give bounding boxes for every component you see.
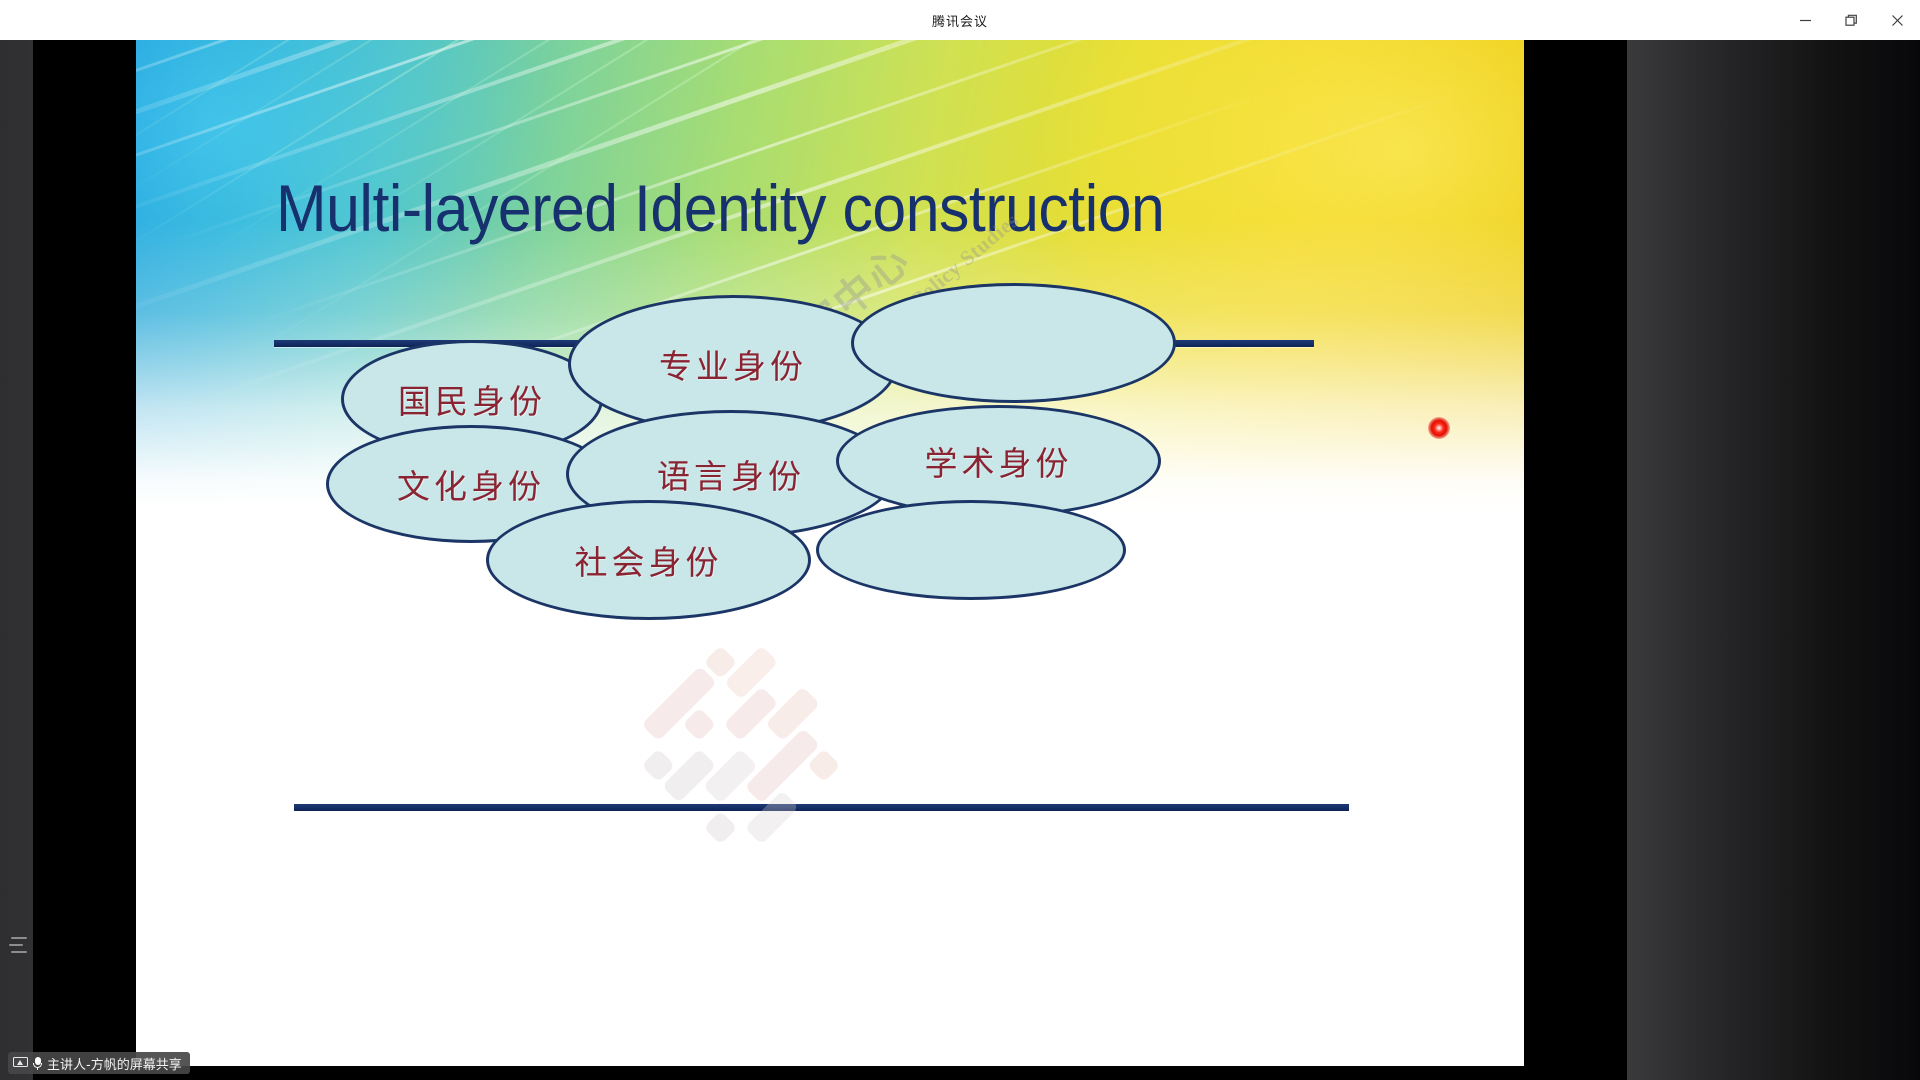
close-button[interactable] bbox=[1874, 0, 1920, 40]
identity-ellipse-cluster: 国民身份 专业身份 文化身份 语言身份 学术身份 bbox=[136, 40, 1524, 1066]
laser-pointer-dot bbox=[1428, 417, 1450, 439]
screen-share-label: 主讲人-方帆的屏幕共享 bbox=[47, 1054, 182, 1073]
identity-ellipse bbox=[816, 500, 1126, 600]
meeting-body: Multi-layered Identity construction 中国外语… bbox=[0, 40, 1920, 1080]
shared-screen-stage[interactable]: Multi-layered Identity construction 中国外语… bbox=[33, 40, 1627, 1080]
identity-ellipse bbox=[851, 283, 1176, 403]
minimize-button[interactable] bbox=[1782, 0, 1828, 40]
left-rail bbox=[0, 40, 33, 1080]
tencent-meeting-window: 腾讯会议 bbox=[0, 0, 1920, 1080]
microphone-icon bbox=[33, 1057, 42, 1070]
screen-share-status: 主讲人-方帆的屏幕共享 bbox=[8, 1052, 190, 1074]
identity-ellipse-label: 国民身份 bbox=[398, 375, 546, 423]
identity-ellipse-label: 文化身份 bbox=[397, 460, 545, 508]
participant-panel: 上海外国语大学中国外语战略研究中心讲坛 Lecture Room of Chin… bbox=[1627, 40, 1920, 1080]
identity-ellipse-label: 专业身份 bbox=[659, 340, 807, 388]
list-menu-icon[interactable] bbox=[6, 934, 28, 956]
identity-ellipse-label: 社会身份 bbox=[575, 536, 723, 584]
identity-ellipse: 社会身份 bbox=[486, 500, 811, 620]
presentation-slide: Multi-layered Identity construction 中国外语… bbox=[136, 40, 1524, 1066]
restore-button[interactable] bbox=[1828, 0, 1874, 40]
identity-ellipse-label: 学术身份 bbox=[925, 437, 1073, 485]
screen-share-icon bbox=[13, 1057, 28, 1069]
identity-ellipse-label: 语言身份 bbox=[657, 450, 805, 498]
window-controls bbox=[1782, 0, 1920, 40]
window-title-bar: 腾讯会议 bbox=[0, 0, 1920, 40]
window-title: 腾讯会议 bbox=[932, 11, 988, 30]
